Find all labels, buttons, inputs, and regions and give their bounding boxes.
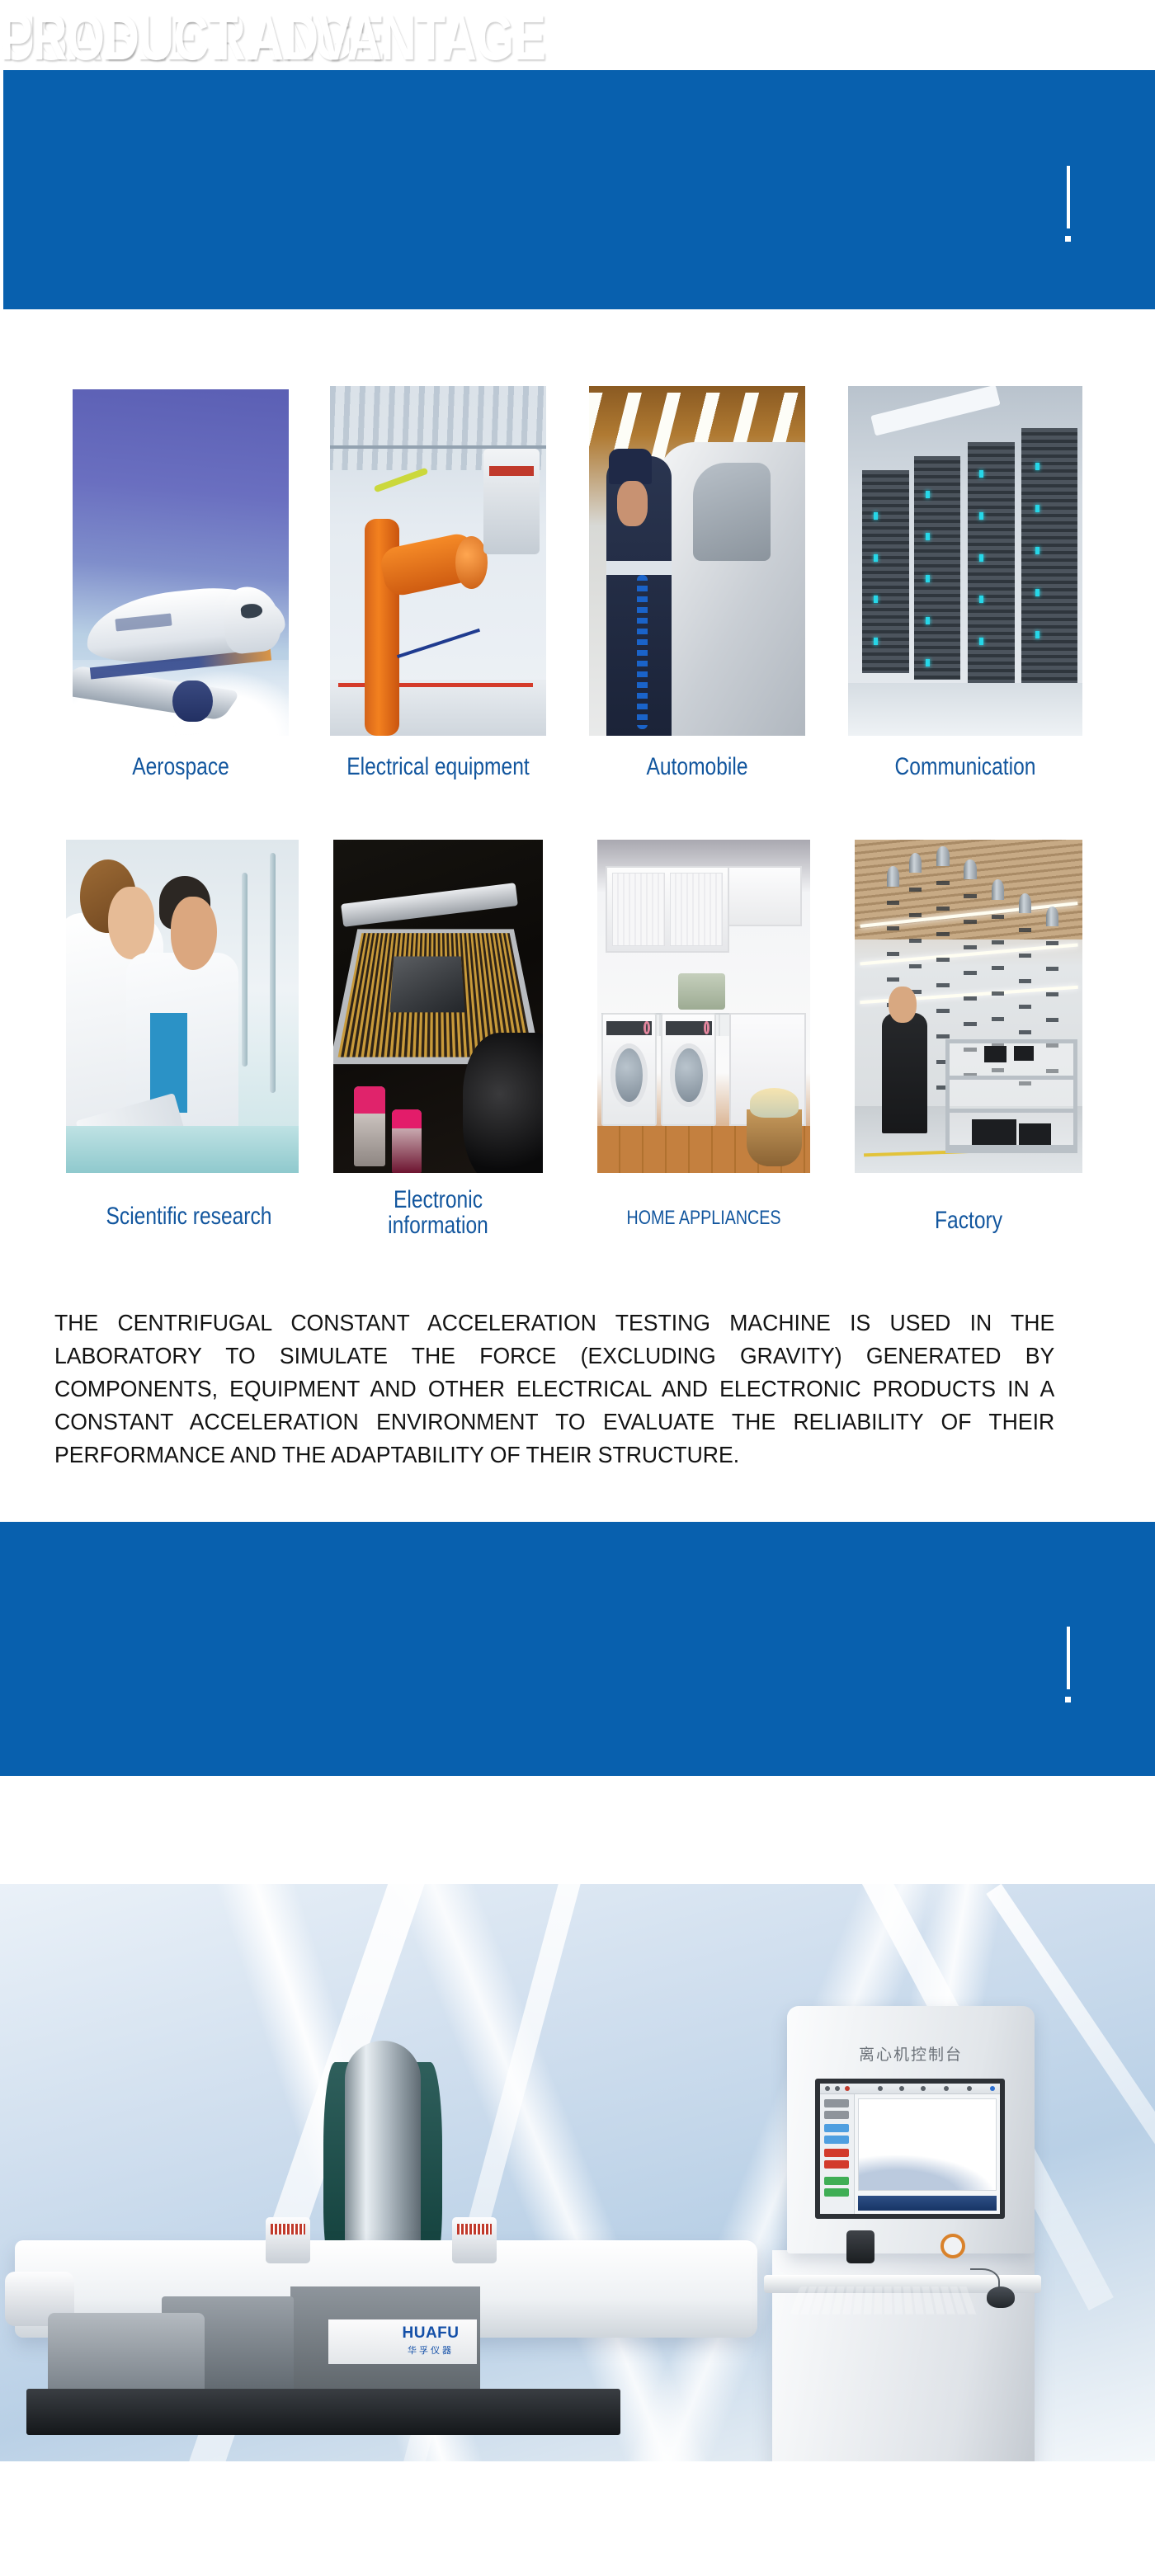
exclamation-accent-icon (1065, 1627, 1071, 1702)
machine-brand-logo: HUAFU 华孚仪器 (388, 2324, 474, 2357)
electronic-information-photo (333, 840, 543, 1173)
card-caption: Communication (851, 755, 1081, 780)
control-console: 离心机控制台 (767, 2006, 1039, 2435)
automobile-photo (589, 386, 805, 736)
card-caption: Electronic information (348, 1188, 528, 1238)
console-title-label: 离心机控制台 (787, 2042, 1035, 2065)
page-title-product-advantage: PRODUCT ADVANTAGE (0, 0, 545, 75)
accent-bar (1067, 1627, 1070, 1689)
home-appliances-photo (597, 840, 810, 1173)
card-caption: Factory (871, 1208, 1066, 1234)
exclamation-accent-icon (1065, 166, 1071, 242)
scientific-research-photo (66, 840, 299, 1173)
aerospace-photo (73, 389, 289, 736)
factory-photo (855, 840, 1082, 1173)
card-caption: Automobile (590, 755, 805, 780)
usable-range-description: THE CENTRIFUGAL CONSTANT ACCELERATION TE… (54, 1307, 1054, 1472)
accent-bar (1067, 166, 1070, 228)
machine-logo-subtext: 华孚仪器 (388, 2343, 474, 2357)
section-banner-usable-range (3, 70, 1155, 309)
console-screen (815, 2079, 1005, 2219)
section-banner-product-advantage (0, 1522, 1155, 1776)
card-caption: Electrical equipment (331, 755, 546, 780)
machine-logo-text: HUAFU (388, 2324, 474, 2343)
electrical-equipment-photo (330, 386, 546, 736)
card-caption: HOME APPLIANCES (596, 1208, 812, 1228)
card-caption: Scientific research (72, 1204, 306, 1230)
card-caption: Aerospace (73, 755, 289, 780)
accent-dot (1065, 236, 1071, 242)
accent-dot (1065, 1697, 1071, 1702)
communication-photo (848, 386, 1082, 736)
centrifugal-testing-machine-photo: HUAFU 华孚仪器 离心机控制台 (0, 1884, 1155, 2461)
